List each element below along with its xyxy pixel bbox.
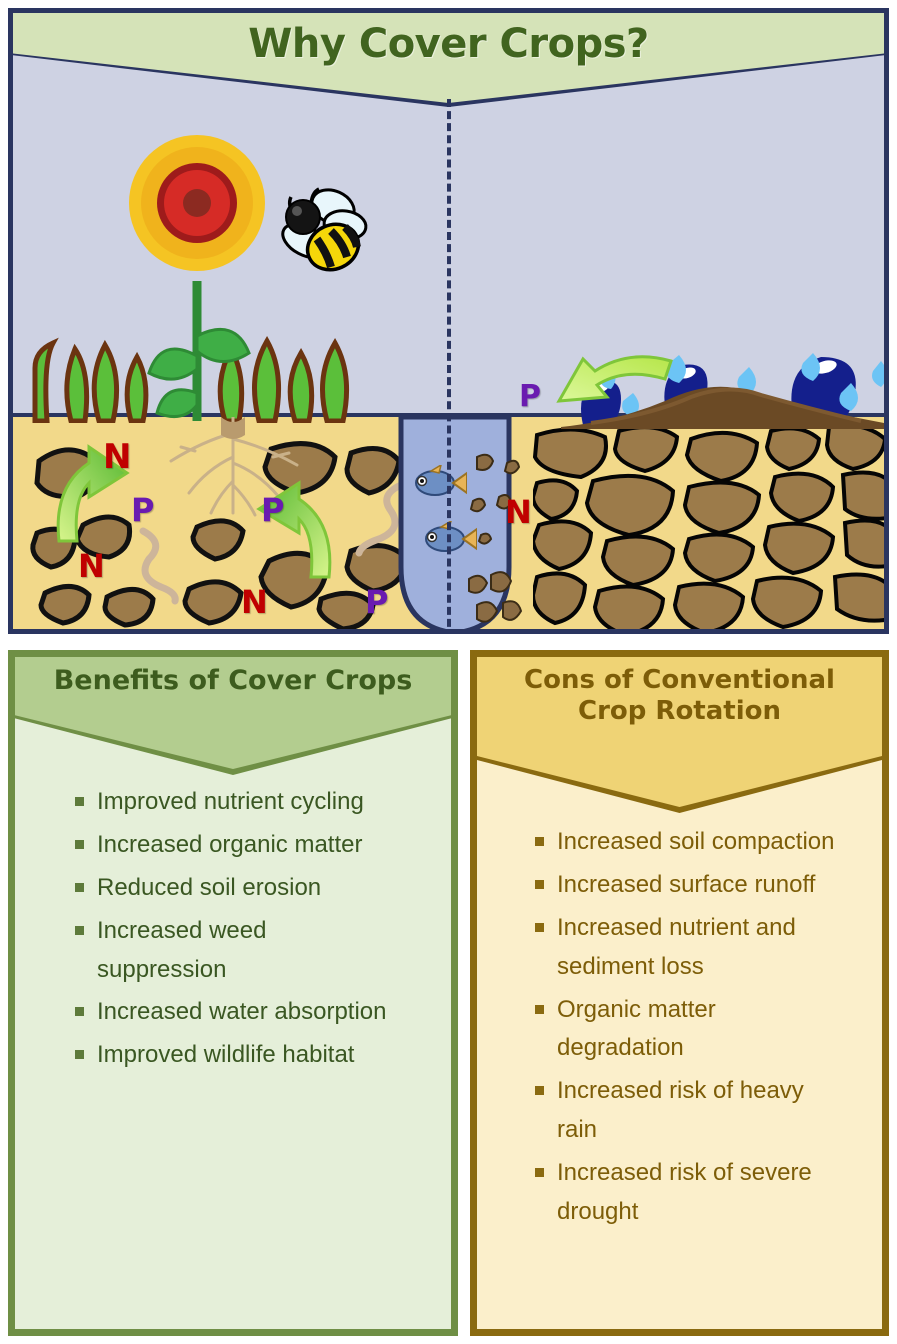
list-item: Reduced soil erosion [67,869,397,908]
list-item: Increased soil compaction [527,823,847,862]
list-item: Improved wildlife habitat [67,1036,397,1075]
nutrient-label-n-3: N [241,583,268,621]
comparison-panels: Benefits of Cover Crops Improved nutrien… [8,650,889,1336]
list-item: Organic matter degradation [527,991,847,1069]
sunflower-icon [109,131,285,431]
nutrient-label-n-channel: N [505,493,532,531]
cons-list: Increased soil compaction Increased surf… [527,823,847,1232]
page-title: Why Cover Crops? [248,21,649,67]
list-item: Increased weed suppression [67,912,397,990]
list-item: Increased organic matter [67,826,397,865]
cons-panel: Cons of Conventional Crop Rotation Incre… [470,650,889,1336]
list-item: Increased nutrient and sediment loss [527,909,847,987]
center-divider [447,99,451,634]
benefits-list: Improved nutrient cycling Increased orga… [67,783,397,1075]
nutrient-label-p-runoff: P [519,379,541,414]
list-item: Increased risk of severe drought [527,1154,847,1232]
benefits-header: Benefits of Cover Crops [15,657,451,769]
benefits-title: Benefits of Cover Crops [40,657,427,697]
nutrient-label-p-3: P [365,583,388,621]
compacted-soil-icon [533,421,889,634]
bee-icon [271,183,375,283]
fish-icon-upper [409,465,467,501]
cons-header: Cons of Conventional Crop Rotation [477,657,882,807]
nutrient-label-p-1: P [131,491,154,529]
nutrient-loss-arrow-icon [555,349,675,415]
list-item: Improved nutrient cycling [67,783,397,822]
list-item: Increased surface runoff [527,866,847,905]
cons-title: Cons of Conventional Crop Rotation [477,657,882,726]
earthworm-icon-left [133,525,233,605]
nutrient-label-n-1: N [103,437,131,477]
illustration-panel: N N N P P P N [8,8,889,634]
list-item: Increased risk of heavy rain [527,1072,847,1150]
benefits-panel: Benefits of Cover Crops Improved nutrien… [8,650,458,1336]
nutrient-label-p-2: P [261,491,284,529]
list-item: Increased water absorption [67,993,397,1032]
nutrient-label-n-2: N [78,547,105,585]
